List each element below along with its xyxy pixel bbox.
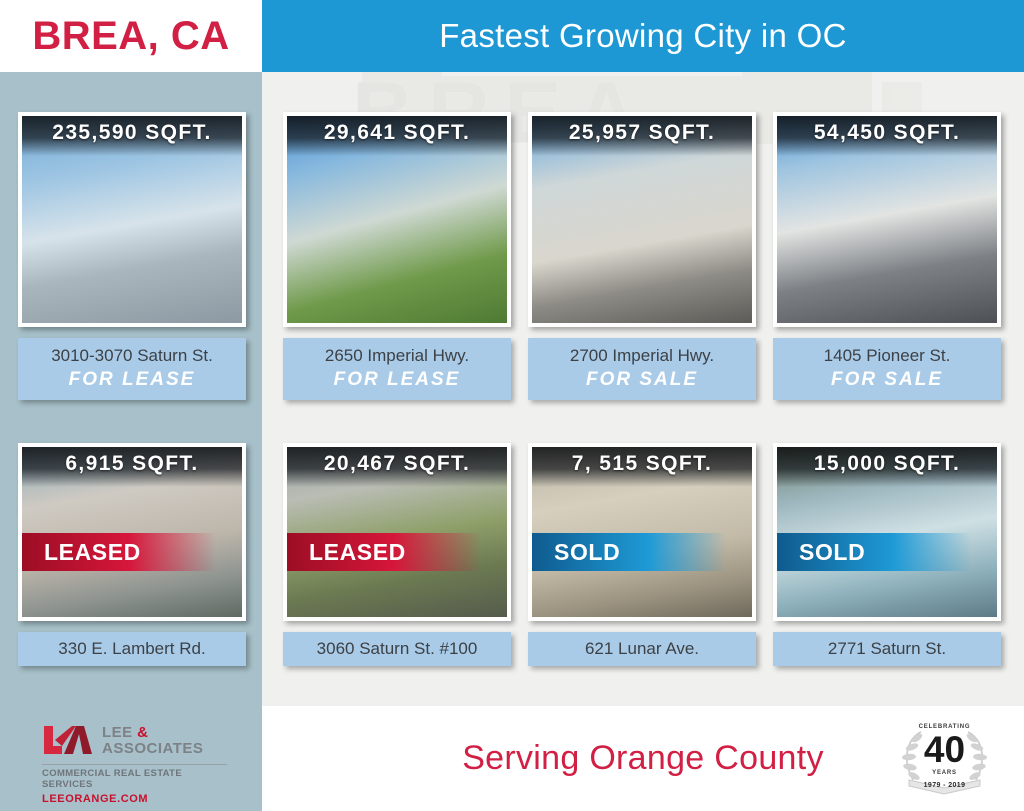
sqft-label: 25,957 SQFT. (569, 121, 715, 145)
sqft-label: 235,590 SQFT. (52, 121, 211, 145)
sqft-band: 25,957 SQFT. (532, 116, 752, 156)
footer-tagline: Serving Orange County (462, 739, 824, 778)
property-photo: 20,467 SQFT.LEASED (283, 443, 511, 621)
sqft-label: 7, 515 SQFT. (572, 452, 713, 476)
sqft-band: 7, 515 SQFT. (532, 447, 752, 487)
sqft-label: 54,450 SQFT. (814, 121, 960, 145)
sqft-band: 29,641 SQFT. (287, 116, 507, 156)
property-caption[interactable]: 2771 Saturn St. (773, 632, 1001, 666)
property-photo: 54,450 SQFT. (773, 112, 1001, 327)
property-card[interactable]: 235,590 SQFT.3010-3070 Saturn St.FOR LEA… (18, 112, 246, 400)
property-availability-status: FOR LEASE (287, 369, 507, 391)
property-address: 2700 Imperial Hwy. (532, 345, 752, 366)
status-ribbon-label: SOLD (777, 539, 865, 566)
property-availability-status: FOR SALE (532, 369, 752, 391)
page-footer: LEE & ASSOCIATES COMMERCIAL REAL ESTATE … (0, 706, 1024, 811)
property-photo: 15,000 SQFT.SOLD (773, 443, 1001, 621)
left-sidebar-panel: 235,590 SQFT.3010-3070 Saturn St.FOR LEA… (0, 72, 262, 706)
badge-year-range: 1979 - 2019 (887, 782, 1002, 789)
property-availability-status: FOR LEASE (22, 369, 242, 391)
property-caption[interactable]: 3010-3070 Saturn St.FOR LEASE (18, 338, 246, 400)
property-caption[interactable]: 2650 Imperial Hwy.FOR LEASE (283, 338, 511, 400)
property-card[interactable]: 54,450 SQFT.1405 Pioneer St.FOR SALE (773, 112, 1001, 400)
logo-website-url[interactable]: LEEORANGE.COM (42, 793, 227, 805)
property-caption[interactable]: 621 Lunar Ave. (528, 632, 756, 666)
property-card[interactable]: 25,957 SQFT.2700 Imperial Hwy.FOR SALE (528, 112, 756, 400)
property-caption[interactable]: 330 E. Lambert Rd. (18, 632, 246, 666)
logo-associates-text: ASSOCIATES (102, 741, 203, 756)
sqft-label: 29,641 SQFT. (324, 121, 470, 145)
property-caption[interactable]: 1405 Pioneer St.FOR SALE (773, 338, 1001, 400)
header-banner: Fastest Growing City in OC (262, 0, 1024, 72)
status-ribbon-sold: SOLD (532, 533, 726, 571)
logo-subtitle: COMMERCIAL REAL ESTATE SERVICES (42, 768, 227, 790)
logo-divider (42, 764, 227, 765)
lee-associates-logo-icon (42, 724, 94, 760)
logo-lee-text: LEE (102, 724, 133, 741)
footer-logo-panel: LEE & ASSOCIATES COMMERCIAL REAL ESTATE … (0, 706, 262, 811)
status-ribbon-sold: SOLD (777, 533, 971, 571)
page-title: BREA, CA (32, 16, 229, 56)
status-ribbon-leased: LEASED (287, 533, 481, 571)
property-address: 621 Lunar Ave. (532, 638, 752, 659)
property-card[interactable]: 7, 515 SQFT.SOLD621 Lunar Ave. (528, 443, 756, 666)
property-availability-status: FOR SALE (777, 369, 997, 391)
sqft-label: 15,000 SQFT. (814, 452, 960, 476)
page-body: 235,590 SQFT.3010-3070 Saturn St.FOR LEA… (0, 72, 1024, 706)
badge-years-label: YEARS (887, 770, 1002, 776)
property-card[interactable]: 20,467 SQFT.LEASED3060 Saturn St. #100 (283, 443, 511, 666)
property-address: 1405 Pioneer St. (777, 345, 997, 366)
property-card[interactable]: 15,000 SQFT.SOLD2771 Saturn St. (773, 443, 1001, 666)
property-photo: 7, 515 SQFT.SOLD (528, 443, 756, 621)
property-photo: 6,915 SQFT.LEASED (18, 443, 246, 621)
property-grid: 29,641 SQFT.2650 Imperial Hwy.FOR LEASE2… (262, 72, 1024, 706)
property-address: 2650 Imperial Hwy. (287, 345, 507, 366)
footer-tagline-panel: Serving Orange County (262, 706, 1024, 811)
header-tagline: Fastest Growing City in OC (439, 17, 847, 55)
sqft-label: 20,467 SQFT. (324, 452, 470, 476)
sqft-band: 20,467 SQFT. (287, 447, 507, 487)
property-address: 3060 Saturn St. #100 (287, 638, 507, 659)
status-ribbon-label: SOLD (532, 539, 620, 566)
status-ribbon-leased: LEASED (22, 533, 216, 571)
sqft-band: 6,915 SQFT. (22, 447, 242, 487)
sqft-band: 235,590 SQFT. (22, 116, 242, 156)
status-ribbon-label: LEASED (287, 539, 406, 566)
badge-number: 40 (887, 731, 1002, 768)
property-address: 2771 Saturn St. (777, 638, 997, 659)
property-card[interactable]: 6,915 SQFT.LEASED330 E. Lambert Rd. (18, 443, 246, 666)
city-title-block: BREA, CA (0, 0, 262, 72)
flyer-page: BREA, CA Fastest Growing City in OC 235,… (0, 0, 1024, 811)
status-ribbon-label: LEASED (22, 539, 141, 566)
property-photo: 29,641 SQFT. (283, 112, 511, 327)
property-address: 3010-3070 Saturn St. (22, 345, 242, 366)
anniversary-badge: CELEBRATING 40 YEARS 1979 - 2019 (887, 718, 1002, 800)
property-card[interactable]: 29,641 SQFT.2650 Imperial Hwy.FOR LEASE (283, 112, 511, 400)
property-address: 330 E. Lambert Rd. (22, 638, 242, 659)
logo-ampersand: & (137, 724, 148, 741)
property-caption[interactable]: 2700 Imperial Hwy.FOR SALE (528, 338, 756, 400)
sqft-band: 15,000 SQFT. (777, 447, 997, 487)
property-photo: 235,590 SQFT. (18, 112, 246, 327)
page-header: BREA, CA Fastest Growing City in OC (0, 0, 1024, 72)
sqft-band: 54,450 SQFT. (777, 116, 997, 156)
property-caption[interactable]: 3060 Saturn St. #100 (283, 632, 511, 666)
sqft-label: 6,915 SQFT. (65, 452, 198, 476)
lee-associates-logo[interactable]: LEE & ASSOCIATES COMMERCIAL REAL ESTATE … (42, 724, 227, 805)
content-panel: BREA 29,641 SQFT.2650 Imperial Hwy.FOR L… (262, 72, 1024, 706)
property-photo: 25,957 SQFT. (528, 112, 756, 327)
